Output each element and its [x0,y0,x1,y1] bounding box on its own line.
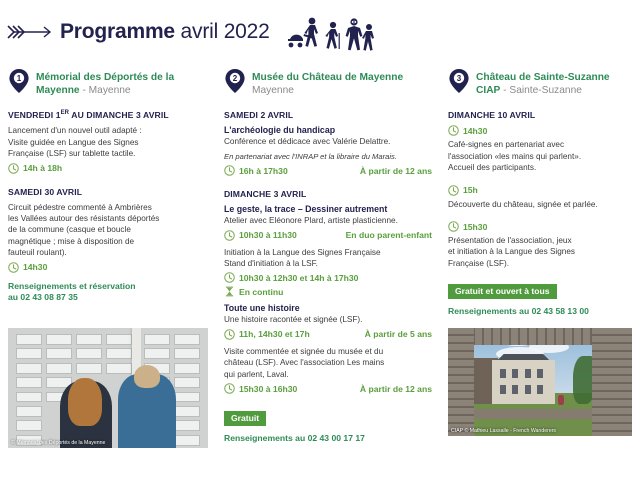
arch-stone-left [448,328,474,436]
desc-line: les Vallées autour des résistants déport… [8,214,159,223]
contact-line-1: Renseignements et réservation [8,281,136,291]
description-1-2: Circuit pédestre commenté à Ambrières le… [8,202,208,259]
date-post: AU DIMANCHE 3 AVRIL [69,110,169,120]
desc-line: magnétique ; mise à disposition de [8,237,134,246]
age-restriction: À partir de 12 ans [360,384,432,394]
desc-line: Circuit pédestre commenté à Ambrières [8,203,152,212]
desc-line: Française (LSF). [448,259,509,268]
clock-icon [224,329,235,340]
description-3-3: Présentation de l'association, jeux et i… [448,235,632,269]
spacer [448,213,632,218]
arrow-right-icon [6,22,52,42]
map-pin-icon: 3 [448,68,470,94]
time-row-3-3: 15h30 [448,221,632,232]
visitor-head-b [134,365,160,388]
map-pin-icon: 1 [8,68,30,94]
low-wall [466,409,602,419]
pin-number-3: 3 [457,74,462,83]
desc-line: l'association «les mains qui parlent». [448,152,581,161]
continuous-label: En continu [239,287,283,297]
time-value: 15h30 à 16h30 [239,384,297,394]
clock-icon [8,262,19,273]
event-title-2-1: L'archéologie du handicap [224,125,432,135]
time-value: 10h30 à 12h30 et 14h à 17h30 [239,273,358,283]
memorial-wall-image [8,328,208,448]
venue-place-2: Mayenne [252,85,294,96]
clock-icon [224,230,235,241]
desc-line: Accueil des participants. [448,163,536,172]
page-title-bold: Programme [60,20,175,43]
venue-name-2: Musée du Château de Mayenne [252,72,403,83]
time-value: 14h30 [463,126,487,136]
clock-icon [8,163,19,174]
date-heading-3-1: DIMANCHE 10 AVRIL [448,110,632,120]
desc-line: et initiation à la Langue des Signes [448,247,575,256]
time-value: 15h30 [463,222,487,232]
page-header: Programme avril 2022 [0,8,640,56]
time-row-1-1: 14h à 18h [8,163,208,174]
venue-sep-1: - [80,85,89,96]
spacer [224,182,432,189]
column-musee-chateau-mayenne: 2 Musée du Château de Mayenne Mayenne SA… [216,70,440,480]
venue-text-1: Mémorial des Déportés de la Mayenne - Ma… [36,70,174,97]
pin-number-1: 1 [17,74,22,83]
photo-memorial: © Mémorial des Déportés de la Mayenne [8,328,208,448]
page-title: Programme avril 2022 [60,20,270,44]
desc-line: Lancement d'un nouvel outil adapté : [8,126,142,135]
price-badge-2: Gratuit [224,411,266,427]
desc-line: Stand d'initiation à la LSF. [224,259,318,268]
desc-line: Présentation de l'association, jeux [448,236,572,245]
date-heading-2-2: DIMANCHE 3 AVRIL [224,189,432,199]
contact-info-2[interactable]: Renseignements au 02 43 00 17 17 [224,433,432,445]
venue-header-2: 2 Musée du Château de Mayenne Mayenne [224,70,432,97]
time-row-3-1: 14h30 [448,125,632,136]
date-heading-2-1: SAMEDI 2 AVRIL [224,110,432,120]
photo-caption-3: CIAP © Mathieu Lassalle - French Wandere… [451,428,556,434]
date-sup: ER [61,111,70,117]
venue-text-3: Château de Sainte-Suzanne CIAP - Sainte-… [476,70,610,97]
accessibility-pictograms-icon [286,12,378,52]
desc-line: Visite commentée et signée du musée et d… [224,347,383,356]
column-memorial-deportes: 1 Mémorial des Déportés de la Mayenne - … [0,70,216,480]
desc-line: Initiation à la Langue des Signes França… [224,248,381,257]
description-3-2: Découverte du château, signée et parlée. [448,199,632,210]
clock-icon [448,125,459,136]
desc-line: fauteuil roulant). [8,248,67,257]
time-value: 15h [463,185,478,195]
date-heading-1-1: VENDREDI 1ER AU DIMANCHE 3 AVRIL [8,110,208,120]
time-row-3-2: 15h [448,185,632,196]
venue-text-2: Musée du Château de Mayenne Mayenne [252,70,403,97]
age-restriction: À partir de 5 ans [365,329,432,339]
time-row-2-5: 15h30 à 16h30 À partir de 12 ans [224,383,432,394]
partner-note-2-1: En partenariat avec l'INRAP et la librai… [224,151,432,162]
clock-icon [224,383,235,394]
description-2-3: Initiation à la Langue des Signes França… [224,247,432,270]
desc-line: Visite guidée en Langue des Signes [8,138,139,147]
venue-name-1: Mémorial des Déportés de la [36,72,174,83]
venue-name-3b: CIAP [476,85,500,96]
description-2-2: Atelier avec Eléonore Plard, artiste pla… [224,215,432,226]
time-row-2-1: 16h à 17h30 À partir de 12 ans [224,165,432,176]
spacer [448,177,632,182]
price-badge-3: Gratuit et ouvert à tous [448,284,557,300]
description-1-1: Lancement d'un nouvel outil adapté : Vis… [8,125,208,159]
desc-line: qui parlent, Laval. [224,370,289,379]
visitor-hair-a [68,378,102,426]
spacer [8,180,208,187]
chateau-scene-image [448,328,632,436]
arch-stone-right [592,328,632,436]
photo-chateau: CIAP © Mathieu Lassalle - French Wandere… [448,328,632,436]
clock-icon [224,165,235,176]
venue-header-3: 3 Château de Sainte-Suzanne CIAP - Saint… [448,70,632,97]
time-value: 14h à 18h [23,163,62,173]
desc-line: de la commune (casque et boucle [8,225,131,234]
venue-name-1b: Mayenne [36,85,80,96]
venue-place-1: Mayenne [89,85,131,96]
time-row-2-2: 10h30 à 11h30 En duo parent-enfant [224,230,432,241]
time-row-2-4: 11h, 14h30 et 17h À partir de 5 ans [224,329,432,340]
date-heading-1-2: SAMEDI 30 AVRIL [8,187,208,197]
contact-info-1[interactable]: Renseignements et réservation au 02 43 0… [8,281,208,304]
desc-line: Café-signes en partenariat avec [448,140,564,149]
time-value: 14h30 [23,262,47,272]
clock-icon [448,221,459,232]
desc-line: château (LSF). Avec l'association Les ma… [224,358,384,367]
page-title-light: avril 2022 [175,20,270,43]
time-row-2-3: 10h30 à 12h30 et 14h à 17h30 [224,272,432,283]
visitor-figure [558,395,564,405]
column-chateau-sainte-suzanne: 3 Château de Sainte-Suzanne CIAP - Saint… [440,70,640,480]
hourglass-icon [225,286,234,297]
venue-name-3: Château de Sainte-Suzanne [476,72,610,83]
age-restriction: À partir de 12 ans [360,166,432,176]
photo-caption-1: © Mémorial des Déportés de la Mayenne [11,440,105,446]
event-title-2-2: Le geste, la trace – Dessiner autrement [224,204,432,214]
programme-flyer: Programme avril 2022 [0,0,640,480]
venue-place-3: Sainte-Suzanne [509,85,582,96]
description-2-5: Visite commentée et signée du musée et d… [224,346,432,380]
columns-container: 1 Mémorial des Déportés de la Mayenne - … [0,70,640,480]
spacer [224,400,432,408]
desc-line: Française (LSF) sur tablette tactile. [8,149,135,158]
time-value: 16h à 17h30 [239,166,288,176]
time-value: 11h, 14h30 et 17h [239,329,310,339]
audience-note: En duo parent-enfant [346,230,432,240]
clock-icon [224,272,235,283]
date-pre: VENDREDI 1 [8,110,61,120]
time-row-1-2: 14h30 [8,262,208,273]
pin-number-2: 2 [233,74,238,83]
time-value: 10h30 à 11h30 [239,230,297,240]
description-2-4: Une histoire racontée et signée (LSF). [224,314,432,325]
event-title-2-4: Toute une histoire [224,303,432,313]
spacer [448,272,632,281]
clock-icon [448,185,459,196]
continuous-row-2-3: En continu [224,286,432,297]
chateau-building [492,360,555,403]
description-2-1: Conférence et dédicace avec Valérie Dela… [224,136,432,147]
map-pin-icon: 2 [224,68,246,94]
contact-line-2: au 02 43 08 87 35 [8,292,78,302]
description-3-1: Café-signes en partenariat avec l'associ… [448,139,632,173]
contact-info-3[interactable]: Renseignements au 02 43 58 13 00 [448,306,632,318]
venue-header-1: 1 Mémorial des Déportés de la Mayenne - … [8,70,208,97]
